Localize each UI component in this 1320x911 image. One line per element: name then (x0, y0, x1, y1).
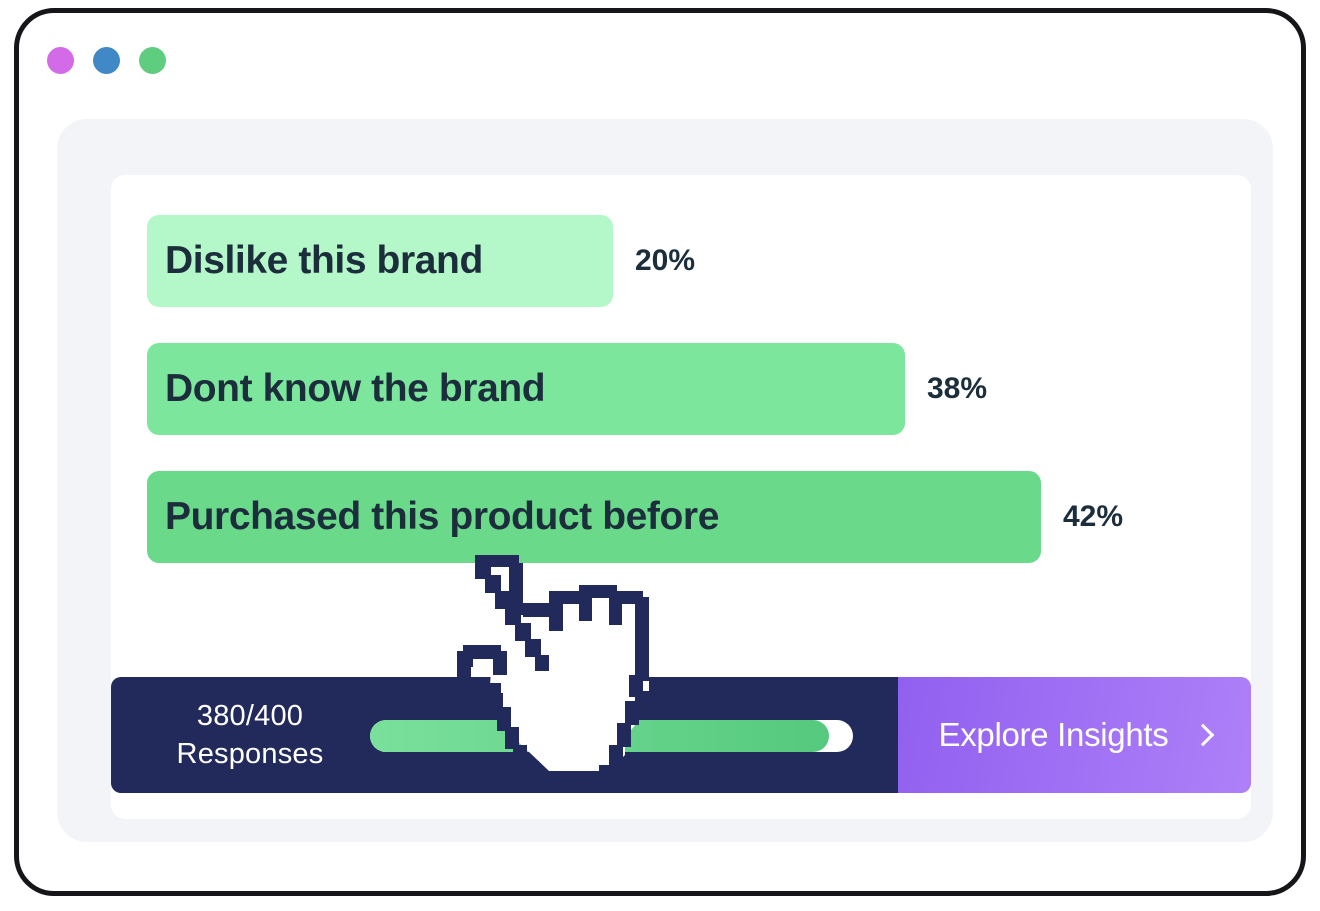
bar-label: Purchased this product before (165, 495, 719, 539)
responses-label: Responses (161, 735, 339, 773)
responses-count: 380/400 (161, 697, 339, 735)
minimize-dot[interactable] (93, 47, 120, 74)
explore-insights-button[interactable]: Explore Insights (898, 677, 1251, 793)
responses-progress-panel: 380/400 Responses (111, 677, 898, 793)
survey-footer: 380/400 Responses Explore Insights (111, 677, 1251, 793)
content-panel: Dislike this brand 20% Dont know the bra… (57, 119, 1273, 842)
bar-label: Dont know the brand (165, 367, 545, 411)
response-progress-fill (370, 720, 829, 752)
survey-results-card: Dislike this brand 20% Dont know the bra… (111, 175, 1251, 819)
bar-purchased-this-product-before[interactable]: Purchased this product before (147, 471, 1041, 563)
maximize-dot[interactable] (139, 47, 166, 74)
bar-row: Dislike this brand 20% (147, 215, 1215, 307)
explore-insights-label: Explore Insights (939, 716, 1169, 754)
bar-value-label: 20% (635, 244, 695, 278)
close-dot[interactable] (47, 47, 74, 74)
browser-window: Dislike this brand 20% Dont know the bra… (14, 8, 1306, 896)
survey-bar-chart: Dislike this brand 20% Dont know the bra… (147, 215, 1215, 599)
bar-value-label: 38% (927, 372, 987, 406)
response-progress-bar[interactable] (370, 720, 853, 752)
bar-label: Dislike this brand (165, 239, 483, 283)
bar-dont-know-the-brand[interactable]: Dont know the brand (147, 343, 905, 435)
chevron-right-icon (1191, 724, 1214, 747)
bar-value-label: 42% (1063, 500, 1123, 534)
window-titlebar (47, 43, 166, 77)
bar-row: Purchased this product before 42% (147, 471, 1215, 563)
bar-dislike-this-brand[interactable]: Dislike this brand (147, 215, 613, 307)
bar-row: Dont know the brand 38% (147, 343, 1215, 435)
responses-counter: 380/400 Responses (161, 697, 339, 774)
